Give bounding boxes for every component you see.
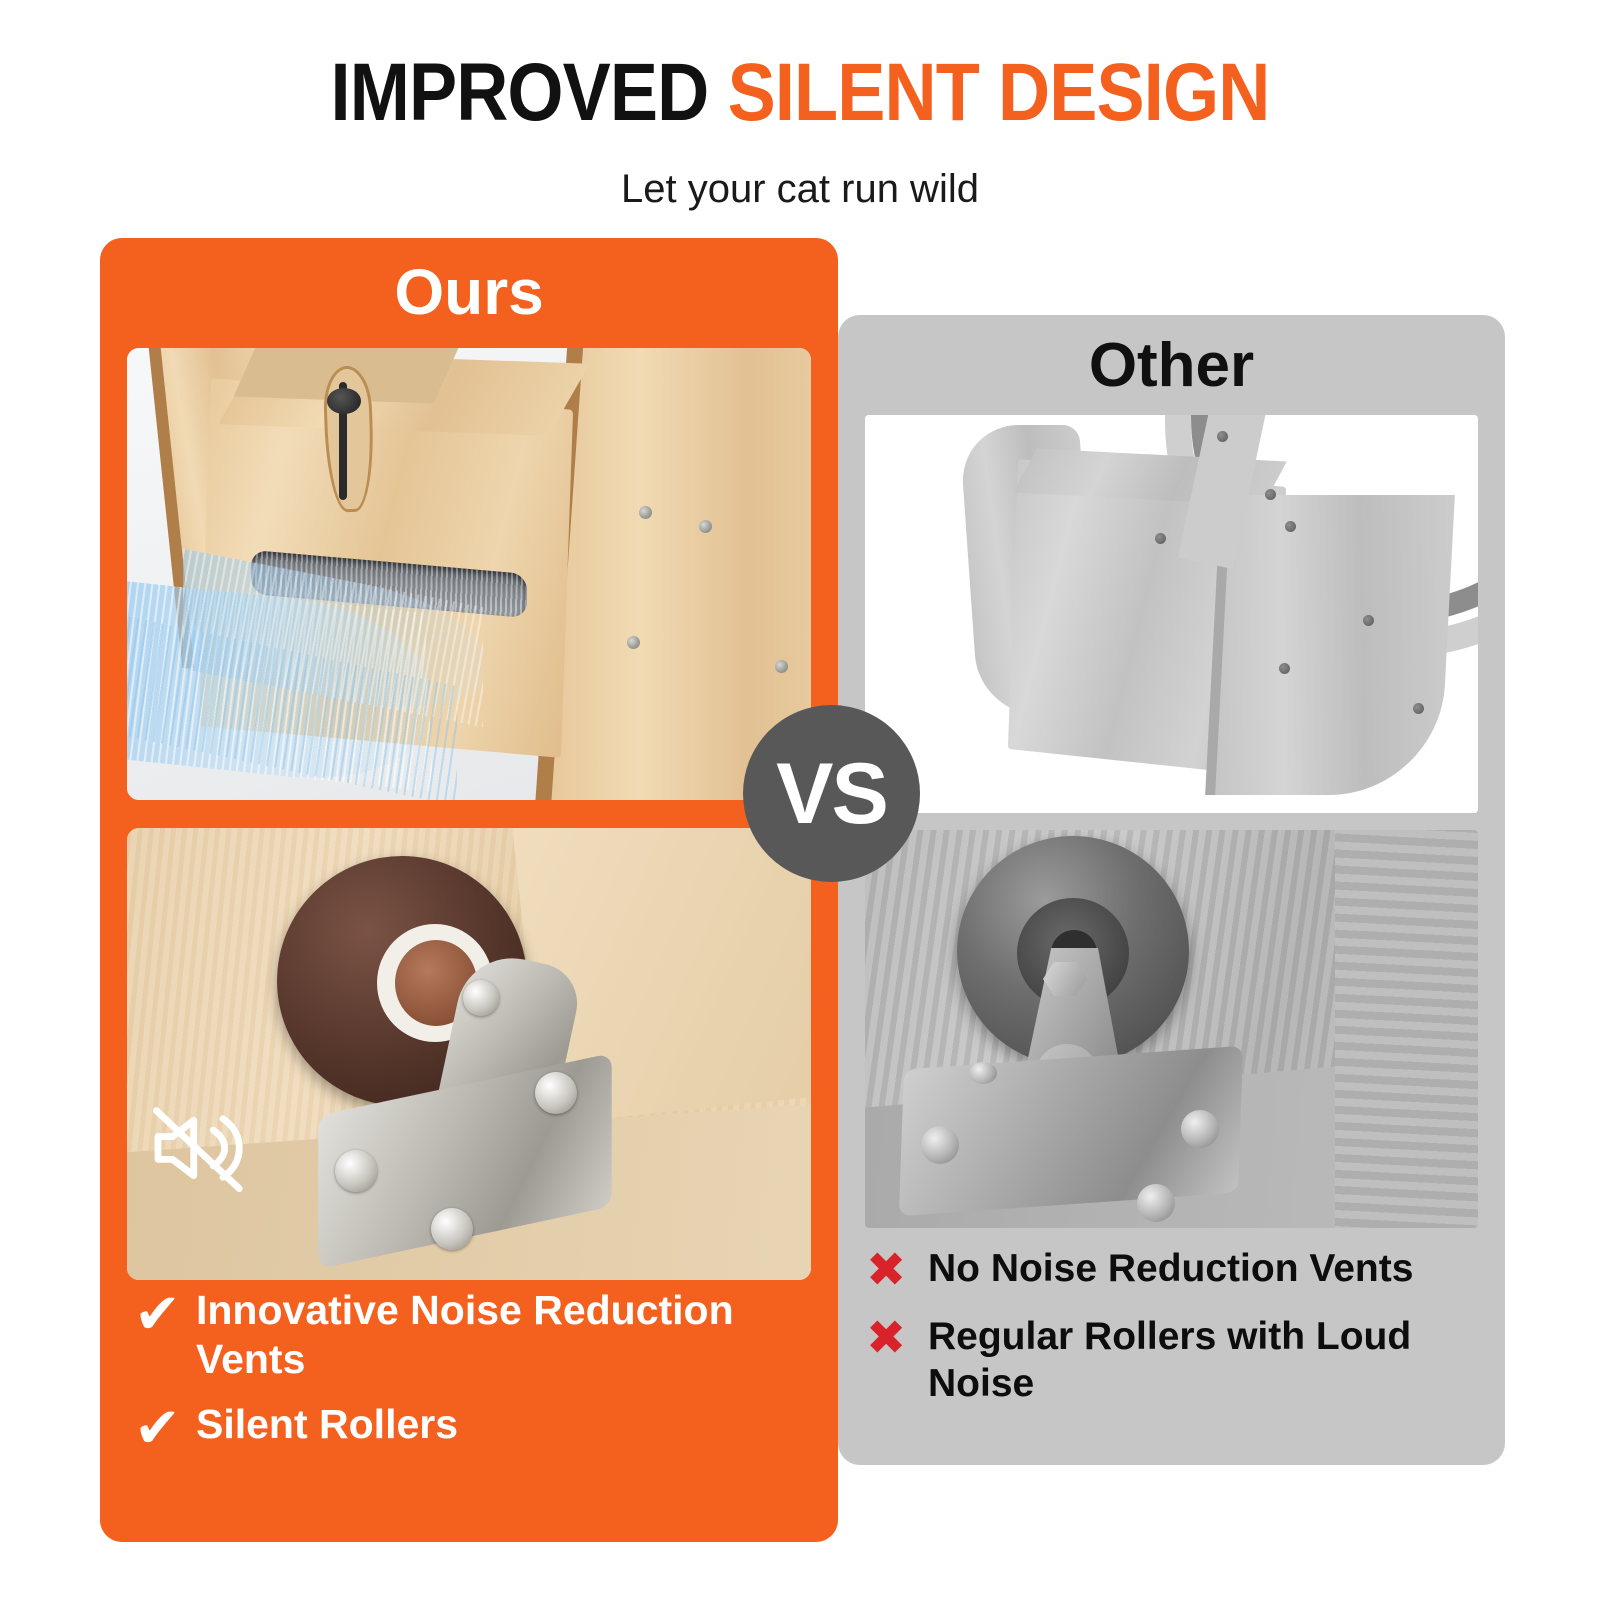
screw <box>627 636 640 649</box>
board-edge-stripes <box>1335 830 1478 1228</box>
ours-bullet-item: ✔ Silent Rollers <box>134 1400 814 1456</box>
screw <box>1279 663 1290 674</box>
screw <box>1285 521 1296 532</box>
other-bullet-item: ✖ Regular Rollers with Loud Noise <box>866 1313 1491 1407</box>
mount-screw <box>431 1208 473 1250</box>
ours-bullet-list: ✔ Innovative Noise Reduction Vents ✔ Sil… <box>134 1286 814 1472</box>
axle-bolt <box>463 980 499 1016</box>
title-part-improved: IMPROVED <box>331 47 709 138</box>
mount-screw <box>969 1062 997 1084</box>
screw <box>1413 703 1424 714</box>
header-banner: IMPROVED SILENT DESIGN Let your cat run … <box>0 0 1600 225</box>
mount-screw <box>335 1150 377 1192</box>
screw <box>1265 489 1276 500</box>
page-subtitle: Let your cat run wild <box>0 166 1600 212</box>
mount-screw <box>535 1072 577 1114</box>
ours-bullet-text: Innovative Noise Reduction Vents <box>196 1286 814 1384</box>
page-title: IMPROVED SILENT DESIGN <box>96 52 1504 134</box>
mount-screw <box>921 1126 959 1164</box>
noise-reduction-vent-photo <box>127 348 811 800</box>
ours-bullet-text: Silent Rollers <box>196 1400 458 1449</box>
ours-panel: Ours <box>100 238 838 1542</box>
ours-bullet-item: ✔ Innovative Noise Reduction Vents <box>134 1286 814 1384</box>
other-bullet-list: ✖ No Noise Reduction Vents ✖ Regular Rol… <box>866 1245 1491 1423</box>
other-heading: Other <box>838 333 1505 399</box>
knob-head <box>327 388 361 414</box>
mute-icon <box>145 1096 249 1205</box>
silent-roller-photo <box>127 828 811 1280</box>
screw <box>639 506 652 519</box>
other-bullet-text: Regular Rollers with Loud Noise <box>928 1313 1491 1407</box>
other-panel: Other <box>838 315 1505 1465</box>
no-vent-photo <box>865 415 1478 813</box>
other-bullet-item: ✖ No Noise Reduction Vents <box>866 1245 1491 1297</box>
vs-label: VS <box>776 751 887 837</box>
screw <box>775 660 788 673</box>
mount-screw <box>1181 1110 1219 1148</box>
title-part-silent-design: SILENT DESIGN <box>728 47 1270 138</box>
screw <box>699 520 712 533</box>
screw <box>1155 533 1166 544</box>
mount-screw <box>1137 1184 1175 1222</box>
cross-icon: ✖ <box>866 1313 928 1365</box>
regular-roller-photo <box>865 830 1478 1228</box>
vs-badge: VS <box>743 705 920 882</box>
other-bullet-text: No Noise Reduction Vents <box>928 1245 1413 1292</box>
support-right <box>1209 495 1455 795</box>
ours-heading: Ours <box>100 258 838 326</box>
check-icon: ✔ <box>134 1400 196 1456</box>
screw <box>1363 615 1374 626</box>
cross-icon: ✖ <box>866 1245 928 1297</box>
check-icon: ✔ <box>134 1286 196 1342</box>
screw <box>1217 431 1228 442</box>
